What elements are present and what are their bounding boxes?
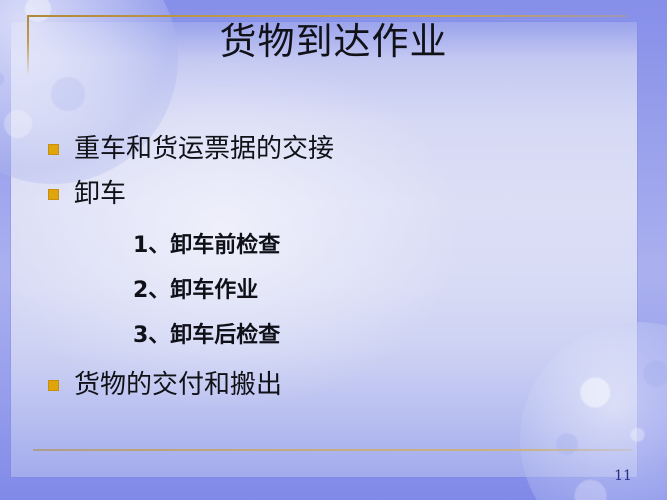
sub-item-2: 2、卸车作业 [133, 277, 258, 305]
bullet-item-2-label: 卸车 [74, 178, 126, 210]
sub-item-3: 3、卸车后检查 [133, 322, 280, 350]
bullet-item-3-label: 货物的交付和搬出 [74, 369, 282, 401]
slide-page-number: 11 [607, 468, 639, 484]
bullet-item-3: 货物的交付和搬出 [48, 369, 282, 401]
bullet-item-1-label: 重车和货运票据的交接 [74, 133, 334, 165]
square-bullet-icon [48, 380, 59, 391]
slide-body: 重车和货运票据的交接 卸车 1、卸车前检查 2、卸车作业 3、卸车后检查 货物的… [0, 0, 667, 500]
bullet-item-1: 重车和货运票据的交接 [48, 133, 334, 165]
bullet-item-2: 卸车 [48, 178, 126, 210]
square-bullet-icon [48, 189, 59, 200]
presentation-slide: 货物到达作业 重车和货运票据的交接 卸车 1、卸车前检查 2、卸车作业 3、卸车… [0, 0, 667, 500]
square-bullet-icon [48, 144, 59, 155]
sub-item-1: 1、卸车前检查 [133, 232, 280, 260]
